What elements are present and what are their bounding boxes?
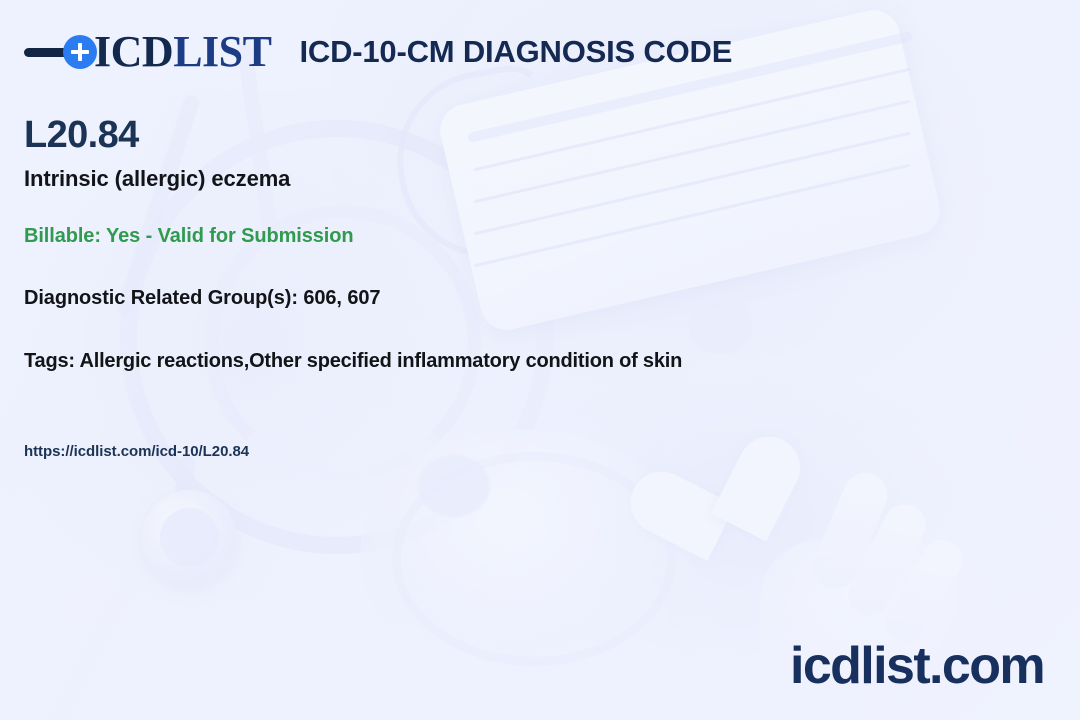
icdlist-logo[interactable]: ICD LIST [24, 26, 271, 78]
site-watermark: icdlist.com [790, 640, 1044, 692]
diagnosis-code: L20.84 [24, 116, 139, 154]
page-title: ICD-10-CM DIAGNOSIS CODE [299, 34, 732, 70]
diagnostic-related-groups: Diagnostic Related Group(s): 606, 607 [24, 286, 380, 310]
billable-status: Billable: Yes - Valid for Submission [24, 224, 353, 248]
plus-icon [63, 35, 97, 69]
card-content: ICD LIST ICD-10-CM DIAGNOSIS CODE L20.84… [0, 0, 1080, 720]
source-url-link[interactable]: https://icdlist.com/icd-10/L20.84 [24, 443, 249, 461]
logo-text-icd: ICD [94, 30, 173, 74]
diagnosis-description: Intrinsic (allergic) eczema [24, 166, 290, 192]
logo-text-list: LIST [173, 30, 271, 74]
tags-line: Tags: Allergic reactions,Other specified… [24, 349, 682, 373]
header: ICD LIST ICD-10-CM DIAGNOSIS CODE [24, 26, 732, 78]
plus-horizontal-stroke [71, 50, 89, 54]
icd-code-card: ICD LIST ICD-10-CM DIAGNOSIS CODE L20.84… [0, 0, 1080, 720]
